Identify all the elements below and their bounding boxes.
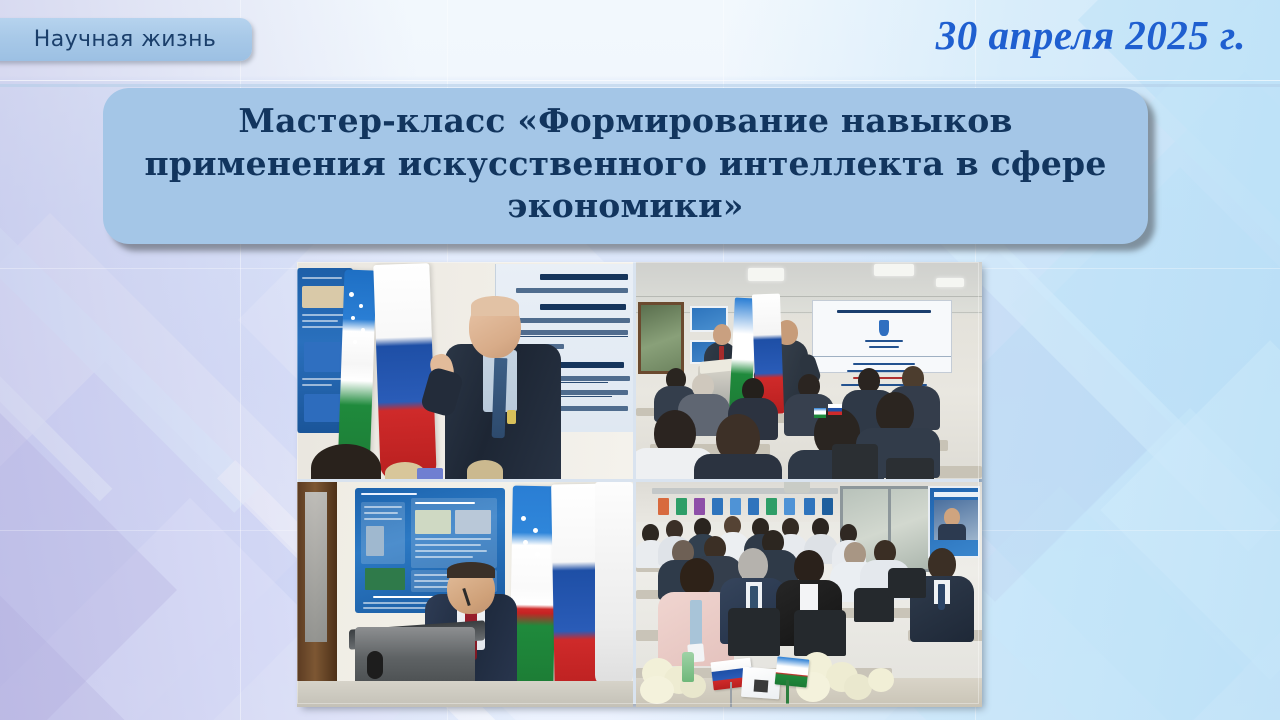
photo-top-right bbox=[636, 262, 982, 479]
section-tab-label: Научная жизнь bbox=[34, 27, 217, 52]
title-banner: Мастер-класс «Формирование навыков приме… bbox=[103, 88, 1148, 244]
photo-bottom-right bbox=[636, 482, 982, 707]
table-flag-uzbekistan bbox=[775, 656, 810, 687]
slide-date: 30 апреля 2025 г. bbox=[936, 11, 1246, 59]
window bbox=[638, 302, 684, 374]
slide-root: Научная жизнь 30 апреля 2025 г. Мастер-к… bbox=[0, 0, 1280, 720]
wall-portrait-poster bbox=[928, 486, 980, 558]
page-title: Мастер-класс «Формирование навыков приме… bbox=[143, 100, 1108, 229]
photo-collage bbox=[297, 262, 979, 704]
flag-russia bbox=[373, 263, 436, 479]
photo-bottom-left bbox=[297, 482, 633, 707]
projection-screen bbox=[812, 300, 952, 373]
section-tab-scientific-life[interactable]: Научная жизнь bbox=[0, 18, 252, 61]
photo-top-left bbox=[297, 262, 633, 479]
